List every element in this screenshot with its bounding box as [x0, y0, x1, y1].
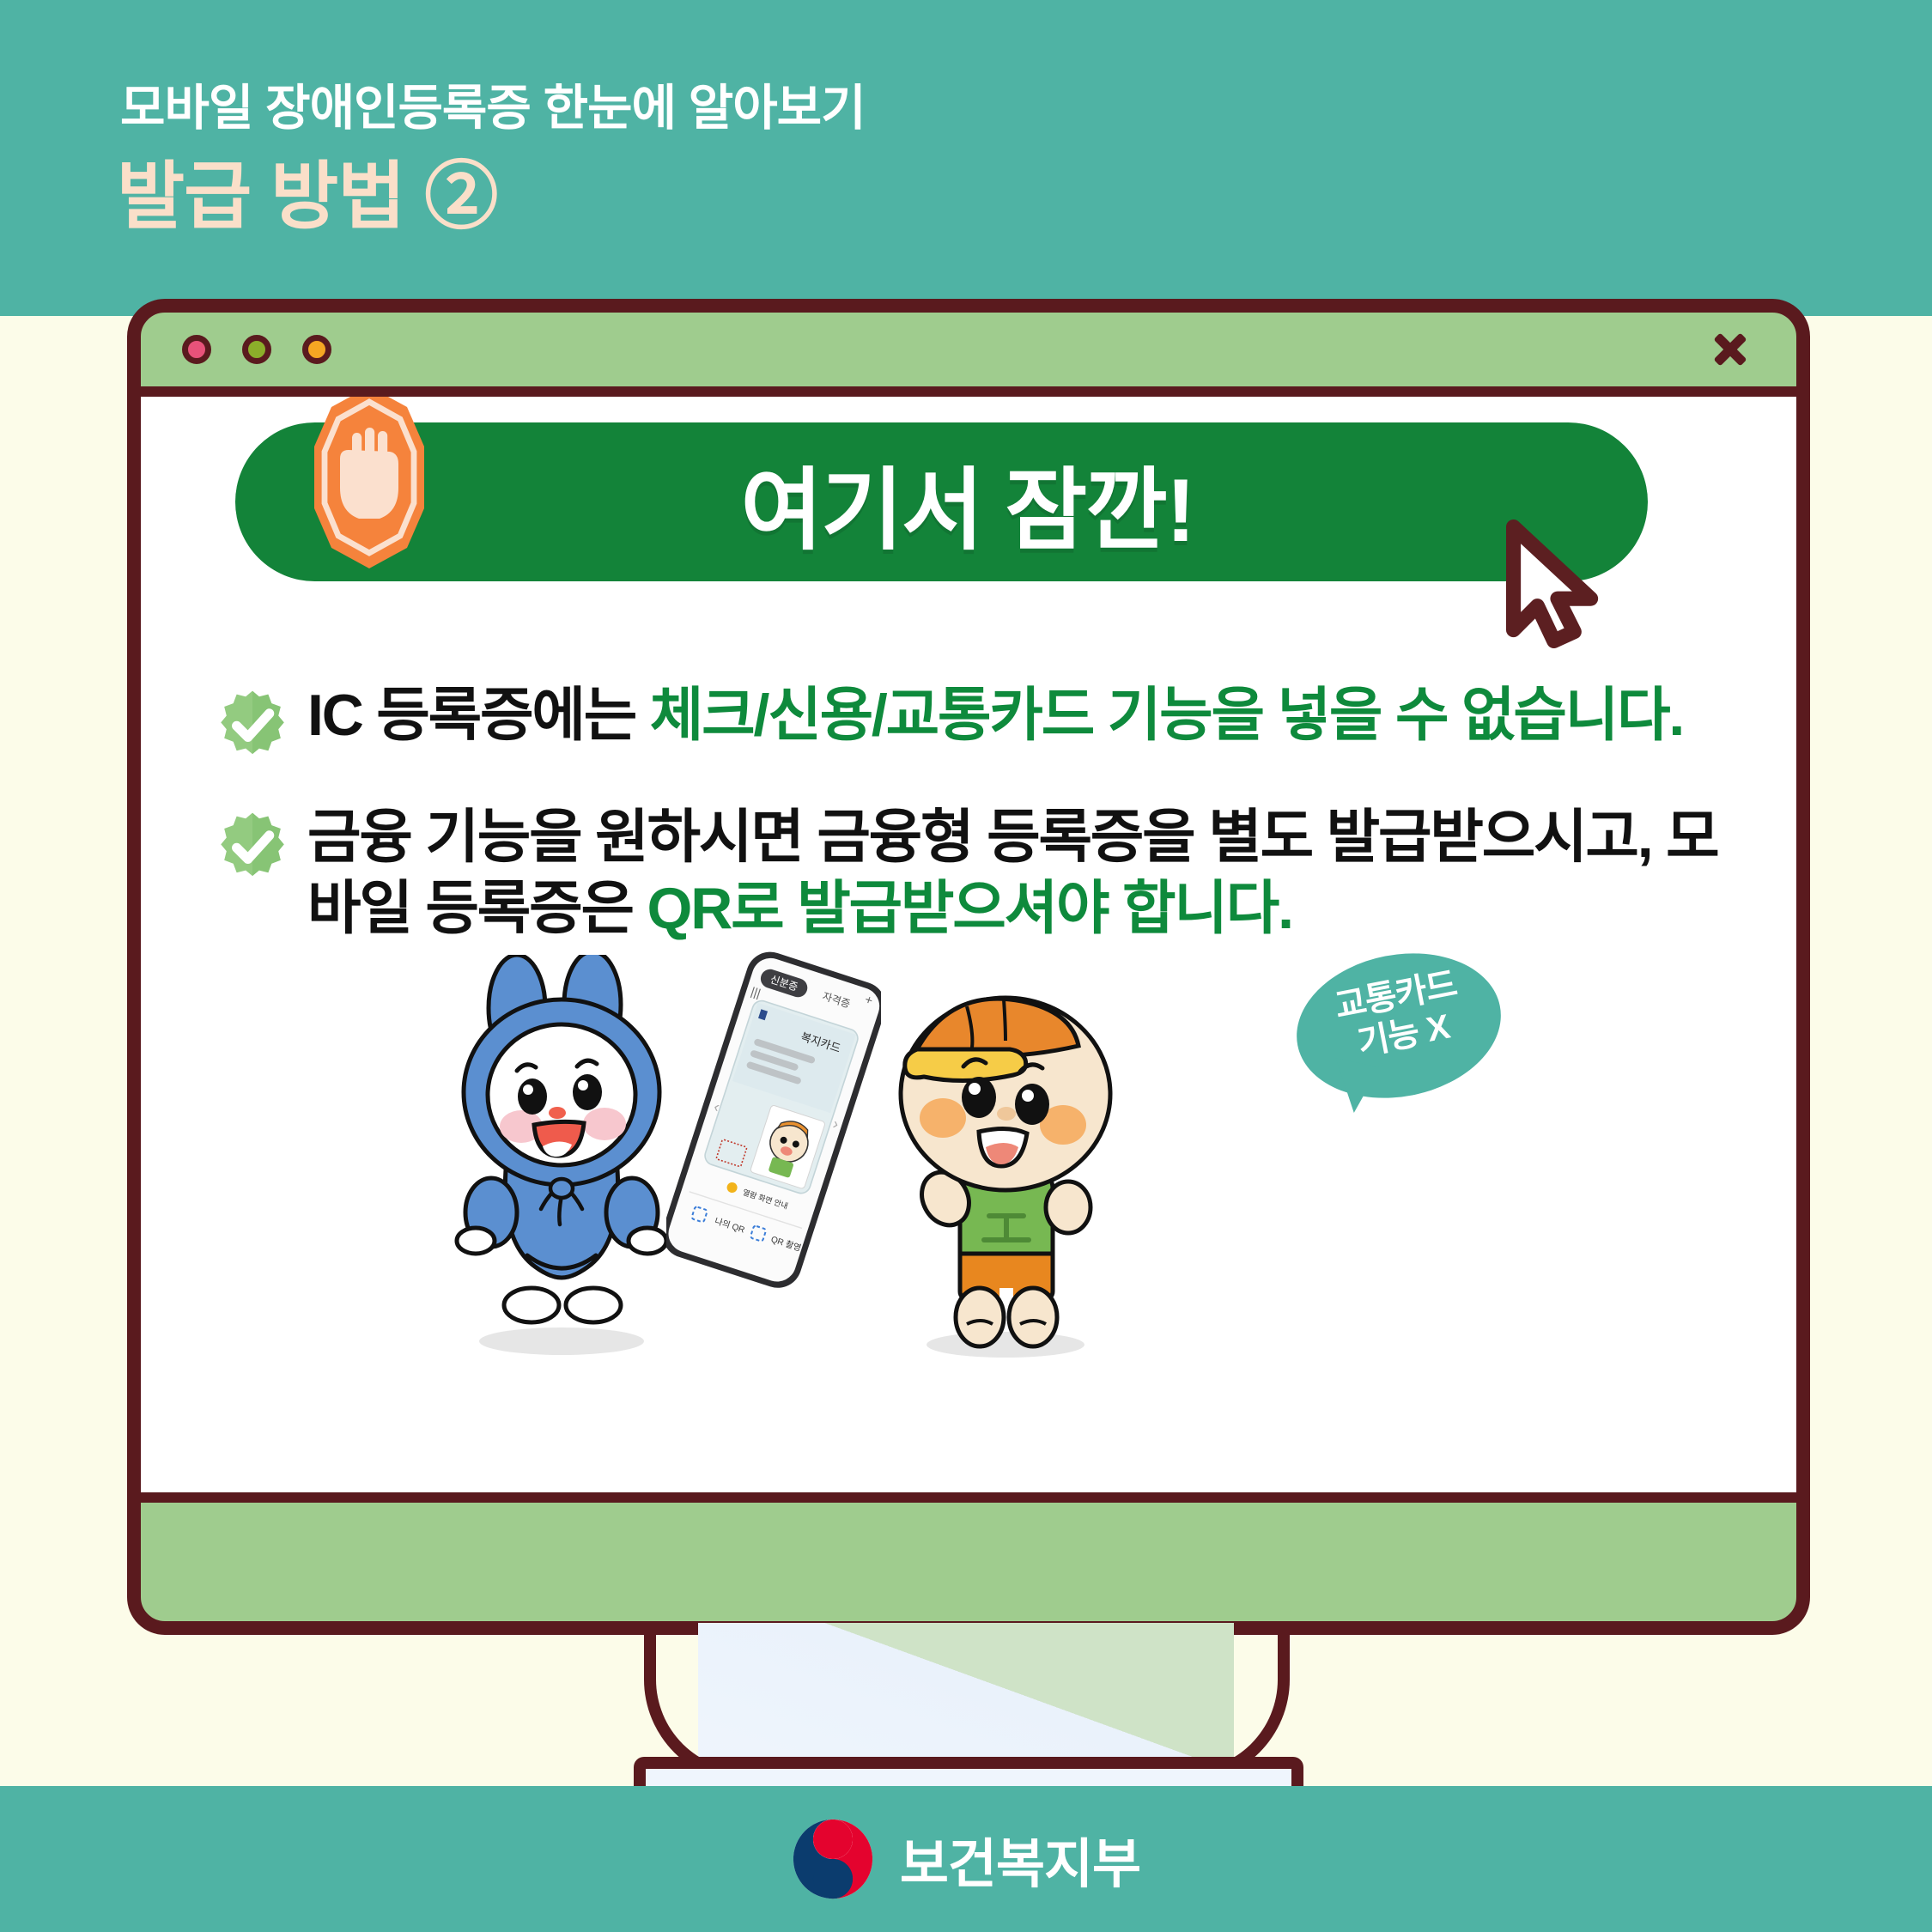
- bullet-item: 금융 기능을 원하시면 금융형 등록증을 별도 발급받으시고, 모바일 등록증은…: [216, 802, 1762, 945]
- screen-content: 여기서 잠깐! IC 등록: [141, 386, 1796, 1503]
- close-icon[interactable]: [1710, 330, 1750, 369]
- korea-government-taegeuk-logo: [792, 1818, 874, 1900]
- stop-hand-octagon-icon: [283, 386, 455, 568]
- bullet-text: IC 등록증에는 체크/신용/교통카드 기능을 넣을 수 없습니다.: [307, 680, 1683, 751]
- bullet-text-highlight: QR로 발급받으셔야 합니다.: [647, 876, 1292, 941]
- monitor-frame: 여기서 잠깐! IC 등록: [127, 299, 1810, 1635]
- footer-label: 보건복지부: [900, 1820, 1140, 1898]
- check-badge-icon: [216, 811, 289, 883]
- page-header: 모바일 장애인등록증 한눈에 알아보기 발급 방법 ②: [0, 0, 1932, 316]
- window-titlebar: [141, 313, 1796, 386]
- bullet-text-plain: IC 등록증에는: [307, 683, 650, 748]
- header-eyebrow: 모바일 장애인등록증 한눈에 알아보기: [120, 69, 866, 139]
- bullet-text: 금융 기능을 원하시면 금융형 등록증을 별도 발급받으시고, 모바일 등록증은…: [307, 802, 1762, 945]
- maximize-dot[interactable]: [302, 335, 331, 364]
- page-title: 발급 방법 ②: [117, 136, 497, 243]
- blue-rabbit-mascot: [424, 955, 699, 1358]
- baby-mascot-with-cap: [864, 974, 1147, 1360]
- phone-mockup[interactable]: 신분증 자격증 복지카드: [666, 946, 881, 1290]
- close-dot[interactable]: [182, 335, 211, 364]
- page-footer: 보건복지부: [0, 1786, 1932, 1932]
- check-badge-icon: [216, 689, 289, 761]
- bullet-item: IC 등록증에는 체크/신용/교통카드 기능을 넣을 수 없습니다.: [216, 680, 1762, 761]
- bullet-list: IC 등록증에는 체크/신용/교통카드 기능을 넣을 수 없습니다. 금융 기능…: [216, 680, 1762, 986]
- bullet-text-highlight: 체크/신용/교통카드 기능을 넣을 수 없습니다.: [650, 683, 1683, 748]
- mouse-cursor-arrow-icon: [1502, 519, 1613, 648]
- window-controls: [182, 335, 331, 364]
- minimize-dot[interactable]: [242, 335, 271, 364]
- illustration-area: 신분증 자격증 복지카드: [424, 946, 1540, 1479]
